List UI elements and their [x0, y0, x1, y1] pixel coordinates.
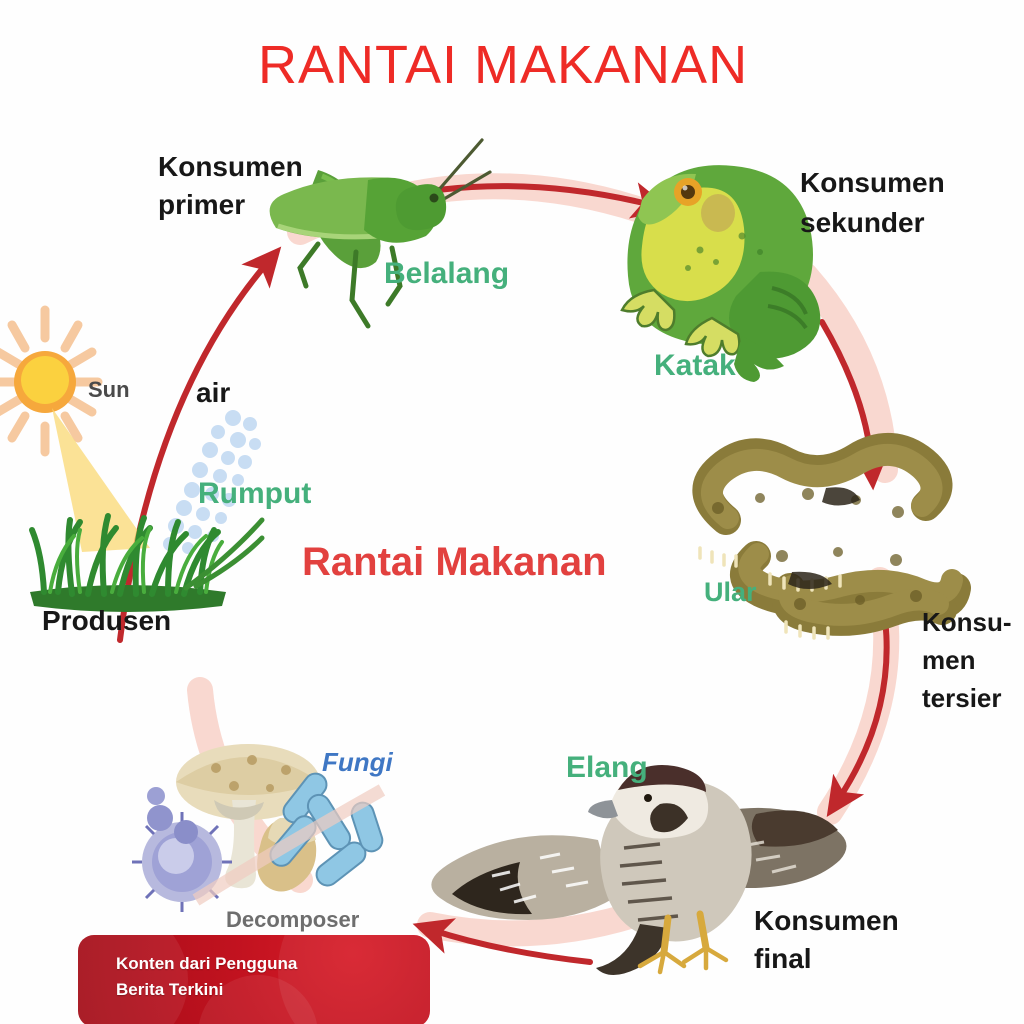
rumput-label: Rumput	[198, 478, 311, 510]
watermark-banner: Konten dari Pengguna Berita Terkini	[78, 935, 430, 1024]
katak-label: Katak	[654, 350, 736, 382]
watermark-line-1: Konten dari Pengguna	[116, 951, 297, 977]
sun-illustration	[0, 310, 150, 552]
sun-label: Sun	[88, 378, 130, 402]
fungi-label: Fungi	[322, 748, 393, 776]
illustration-layer	[0, 0, 1024, 1024]
belalang-label: Belalang	[384, 258, 509, 290]
konsumen-final-label-line1: Konsumen	[754, 906, 899, 936]
konsumen-primer-label-line1: Konsumen	[158, 152, 303, 182]
konsumen-primer-label-line2: primer	[158, 190, 245, 220]
konsumen-tersier-label-line2: men	[922, 646, 975, 674]
ular-label: Ular	[704, 578, 757, 607]
konsumen-tersier-label-line3: tersier	[922, 684, 1002, 712]
grass-illustration	[30, 516, 262, 612]
snake-illustration	[700, 448, 956, 638]
konsumen-tersier-label-line1: Konsu-	[922, 608, 1012, 636]
center-label: Rantai Makanan	[302, 541, 607, 584]
air-label: air	[196, 378, 230, 408]
produsen-label: Produsen	[42, 606, 171, 636]
watermark-line-2: Berita Terkini	[116, 977, 297, 1003]
konsumen-final-label-line2: final	[754, 944, 812, 974]
elang-label: Elang	[566, 752, 648, 784]
decomposer-label: Decomposer	[226, 908, 359, 932]
food-chain-diagram: RANTAI MAKANAN Rantai Makanan Sun air Ru…	[0, 0, 1024, 1024]
konsumen-sekunder-label-line1: Konsumen	[800, 168, 945, 198]
page-title: RANTAI MAKANAN	[258, 36, 748, 94]
konsumen-sekunder-label-line2: sekunder	[800, 208, 925, 238]
